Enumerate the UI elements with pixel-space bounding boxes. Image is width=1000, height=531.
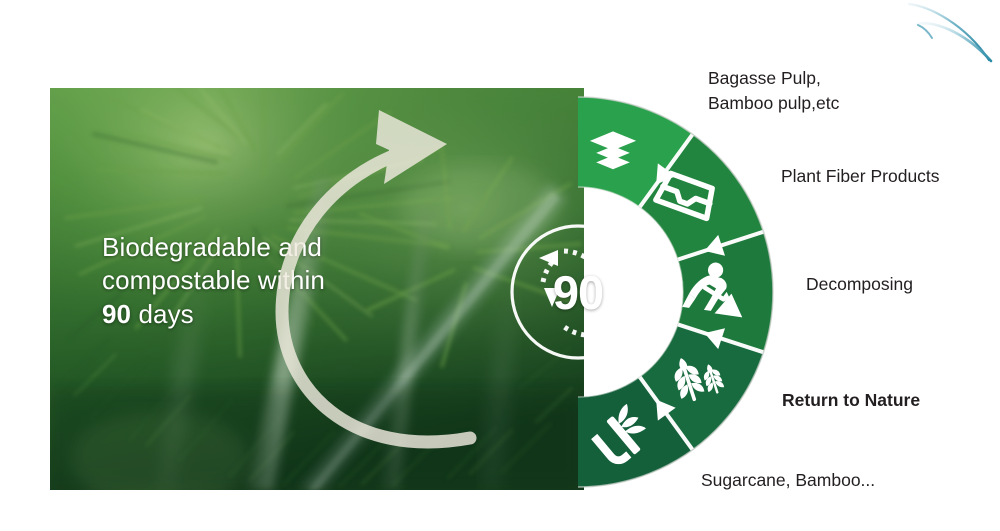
- inbox-tray-icon: [656, 172, 717, 219]
- caption-line-1: Biodegradable and: [102, 231, 432, 264]
- worker-digging-icon: [682, 259, 749, 318]
- lifecycle-ring: [578, 92, 778, 492]
- segment-label-4: Sugarcane, Bamboo...: [701, 468, 875, 493]
- photo-caption: Biodegradable and compostable within 90 …: [102, 231, 432, 331]
- caption-days-number: 90: [102, 299, 131, 329]
- caption-days-unit: days: [131, 299, 194, 329]
- caption-line-2: compostable within: [102, 264, 432, 297]
- bamboo-photo-panel: Biodegradable and compostable within 90 …: [50, 88, 584, 490]
- caption-line-3: 90 days: [102, 298, 432, 331]
- wheat-stalks-icon: [669, 348, 725, 405]
- ring-segment-0[interactable]: [578, 92, 758, 292]
- segment-label-2: Decomposing: [806, 272, 913, 297]
- bamboo-sprout-icon: [588, 404, 655, 470]
- ring-segment-4[interactable]: [578, 292, 701, 492]
- ring-segment-1[interactable]: [578, 122, 778, 445]
- segment-label-3: Return to Nature: [782, 388, 920, 413]
- ring-segment-3[interactable]: [578, 292, 778, 492]
- infographic-canvas: Biodegradable and compostable within 90 …: [0, 0, 1000, 531]
- decorative-swoosh-icon: [895, 0, 1000, 66]
- segment-label-0: Bagasse Pulp, Bamboo pulp,etc: [708, 66, 839, 116]
- ring-segment-2[interactable]: [578, 227, 778, 492]
- layers-stack-icon: [590, 131, 636, 169]
- segment-label-1: Plant Fiber Products: [781, 164, 940, 189]
